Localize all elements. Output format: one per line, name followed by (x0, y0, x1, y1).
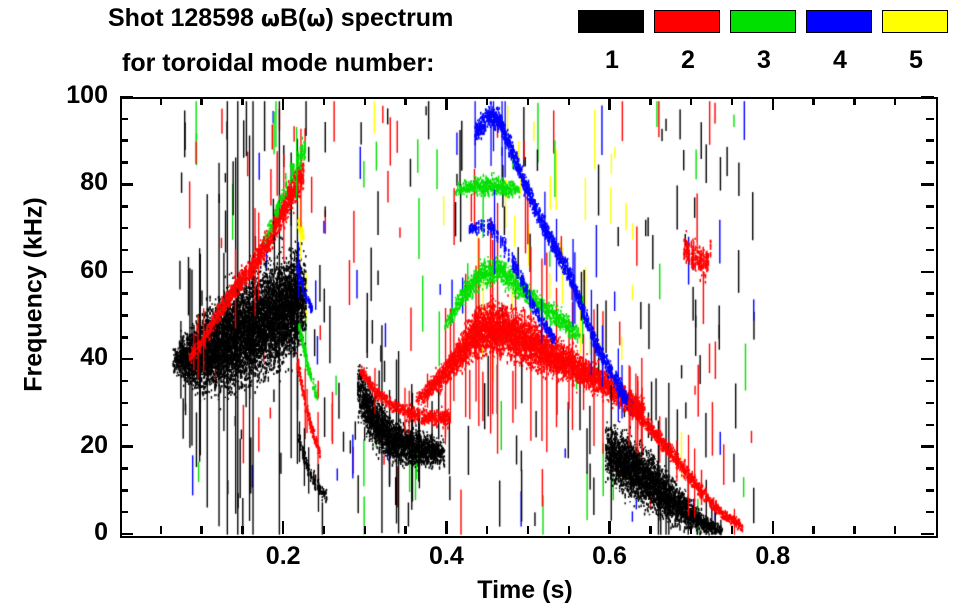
legend-swatch-3 (730, 10, 796, 33)
legend-label-1: 1 (578, 48, 646, 73)
x-tick-major-top (772, 97, 775, 110)
x-tick-minor-top (241, 97, 244, 105)
x-tick-minor-top (404, 97, 407, 105)
x-tick-minor-top (323, 97, 326, 105)
x-tick-minor-top (200, 97, 203, 105)
legend-swatch-1 (578, 10, 644, 33)
x-tick-minor (894, 526, 897, 534)
legend-swatch-4 (806, 10, 872, 33)
y-tick-major-right (921, 445, 934, 448)
x-tick-label-0.8: 0.8 (733, 542, 813, 571)
y-tick-major (120, 358, 133, 361)
x-tick-major-top (608, 97, 611, 110)
y-tick-minor-right (926, 118, 934, 121)
x-tick-major-top (445, 97, 448, 110)
title-prefix: Shot 128598 (108, 4, 261, 32)
y-tick-minor-right (926, 249, 934, 252)
legend-entry-2: 2 (654, 10, 722, 73)
x-tick-minor (568, 526, 571, 534)
y-tick-minor-right (926, 511, 934, 514)
y-tick-minor (120, 205, 128, 208)
x-tick-minor-top (649, 97, 652, 105)
y-tick-major-right (921, 533, 934, 536)
figure-spectrogram: Shot 128598 ωB(ω) spectrum for toroidal … (0, 0, 963, 615)
y-tick-major (120, 445, 133, 448)
x-tick-major (772, 521, 775, 534)
y-tick-minor-right (926, 424, 934, 427)
y-tick-major-right (921, 96, 934, 99)
plot-area (120, 97, 938, 538)
x-tick-minor-top (894, 97, 897, 105)
legend-entry-3: 3 (730, 10, 798, 73)
y-tick-minor-right (926, 292, 934, 295)
x-tick-minor-top (160, 97, 163, 105)
y-tick-minor-right (926, 161, 934, 164)
title-suffix: ) spectrum (326, 4, 454, 32)
x-tick-major (282, 521, 285, 534)
y-tick-minor (120, 292, 128, 295)
y-tick-label-0: 0 (28, 518, 108, 547)
x-tick-major (608, 521, 611, 534)
x-tick-minor-top (690, 97, 693, 105)
x-tick-label-0.4: 0.4 (406, 542, 486, 571)
x-tick-minor (404, 526, 407, 534)
y-tick-minor-right (926, 467, 934, 470)
legend-entry-4: 4 (806, 10, 874, 73)
x-tick-minor-top (731, 97, 734, 105)
y-tick-minor-right (926, 489, 934, 492)
y-tick-label-20: 20 (28, 431, 108, 460)
legend-label-5: 5 (882, 48, 950, 73)
title-mid: B( (280, 4, 306, 32)
y-tick-minor (120, 380, 128, 383)
y-tick-major-right (921, 271, 934, 274)
x-tick-label-0.6: 0.6 (570, 542, 650, 571)
x-tick-minor-top (853, 97, 856, 105)
y-tick-minor-right (926, 139, 934, 142)
y-tick-minor (120, 314, 128, 317)
legend-label-3: 3 (730, 48, 798, 73)
x-tick-minor-top (364, 97, 367, 105)
x-axis-title: Time (s) (0, 576, 963, 605)
omega-symbol-2: ω (306, 7, 325, 32)
x-tick-minor (486, 526, 489, 534)
x-tick-label-0.2: 0.2 (243, 542, 323, 571)
y-axis-title: Frequency (kHz) (20, 165, 49, 425)
x-tick-minor (364, 526, 367, 534)
y-tick-minor (120, 424, 128, 427)
y-tick-minor (120, 489, 128, 492)
page-title: Shot 128598 ωB(ω) spectrum (108, 4, 453, 33)
y-tick-minor-right (926, 314, 934, 317)
y-tick-minor-right (926, 380, 934, 383)
title-subline: for toroidal mode number: (122, 49, 435, 78)
y-tick-major (120, 271, 133, 274)
y-tick-minor (120, 161, 128, 164)
legend-swatch-5 (882, 10, 948, 33)
omega-symbol-1: ω (261, 7, 280, 32)
x-tick-minor (649, 526, 652, 534)
x-tick-minor-top (568, 97, 571, 105)
y-tick-minor (120, 118, 128, 121)
legend-label-2: 2 (654, 48, 722, 73)
legend-label-4: 4 (806, 48, 874, 73)
x-tick-minor (160, 526, 163, 534)
x-tick-minor (853, 526, 856, 534)
x-tick-minor (690, 526, 693, 534)
x-tick-minor-top (527, 97, 530, 105)
y-tick-minor (120, 139, 128, 142)
y-tick-minor (120, 402, 128, 405)
y-tick-major-right (921, 183, 934, 186)
x-tick-minor (200, 526, 203, 534)
x-tick-minor (241, 526, 244, 534)
y-tick-minor (120, 336, 128, 339)
y-tick-major (120, 183, 133, 186)
y-tick-major (120, 96, 133, 99)
legend-swatch-2 (654, 10, 720, 33)
legend-entry-1: 1 (578, 10, 646, 73)
legend-entry-5: 5 (882, 10, 950, 73)
y-tick-minor-right (926, 402, 934, 405)
y-tick-minor-right (926, 205, 934, 208)
legend: 12345 (578, 10, 948, 90)
spectrogram-canvas (122, 99, 936, 536)
y-tick-minor (120, 249, 128, 252)
y-tick-minor-right (926, 227, 934, 230)
y-tick-minor (120, 227, 128, 230)
x-tick-minor (527, 526, 530, 534)
x-tick-major-top (282, 97, 285, 110)
x-tick-major (445, 521, 448, 534)
y-tick-major-right (921, 358, 934, 361)
y-tick-label-100: 100 (28, 81, 108, 110)
y-tick-major (120, 533, 133, 536)
x-tick-minor-top (486, 97, 489, 105)
y-tick-minor (120, 511, 128, 514)
x-tick-minor (323, 526, 326, 534)
x-tick-minor-top (812, 97, 815, 105)
y-tick-minor-right (926, 336, 934, 339)
x-tick-minor (731, 526, 734, 534)
x-tick-minor (812, 526, 815, 534)
y-tick-minor (120, 467, 128, 470)
